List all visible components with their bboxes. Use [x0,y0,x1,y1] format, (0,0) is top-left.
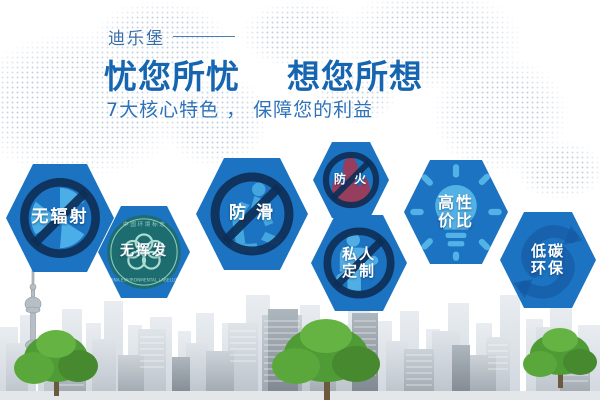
headline-right: 想您所想 [287,57,423,96]
brand-divider-line [173,36,235,37]
feature-label-line: 低碳 [531,243,565,260]
tree-cluster-right [520,322,600,388]
brand-name: 迪乐堡 [108,24,165,49]
feature-label-line: 无辐射 [32,208,89,227]
tree-cluster-center [268,308,386,400]
feature-label-line: 环保 [531,260,565,277]
page-subtitle: 7大核心特色 ， 保障您的利益 [106,95,373,122]
feature-label-line: 防 火 [334,173,368,186]
feature-label: 私人定制 [342,246,376,280]
feature-label-line: 无挥发 [120,244,168,260]
feature-label-line: 私人 [342,246,376,263]
feature-label-line: 定制 [342,263,376,280]
feature-label-line: 价比 [438,212,474,230]
feature-label: 防 滑 [229,204,275,223]
tree-cluster-left [12,318,104,396]
brand-row: 迪乐堡 [108,24,235,49]
svg-text:中 国 环 境 标 志: 中 国 环 境 标 志 [123,220,165,228]
feature-label: 高性价比 [438,194,474,230]
svg-text:CHINA ENVIRONMENTAL LABELLING: CHINA ENVIRONMENTAL LABELLING [106,277,182,282]
feature-label-line: 防 滑 [229,204,275,223]
feature-label: 防 火 [334,173,368,186]
feature-label: 无挥发 [120,244,168,260]
headline-left: 忧您所忧 [104,57,240,96]
promo-banner: 迪乐堡 忧您所忧 想您所想 7大核心特色 ， 保障您的利益 无辐射中 国 环 境… [0,0,600,400]
feature-label: 无辐射 [32,208,89,227]
feature-label-line: 高性 [438,194,474,212]
page-title: 忧您所忧 想您所想 [104,50,423,98]
feature-label: 低碳环保 [531,243,565,277]
